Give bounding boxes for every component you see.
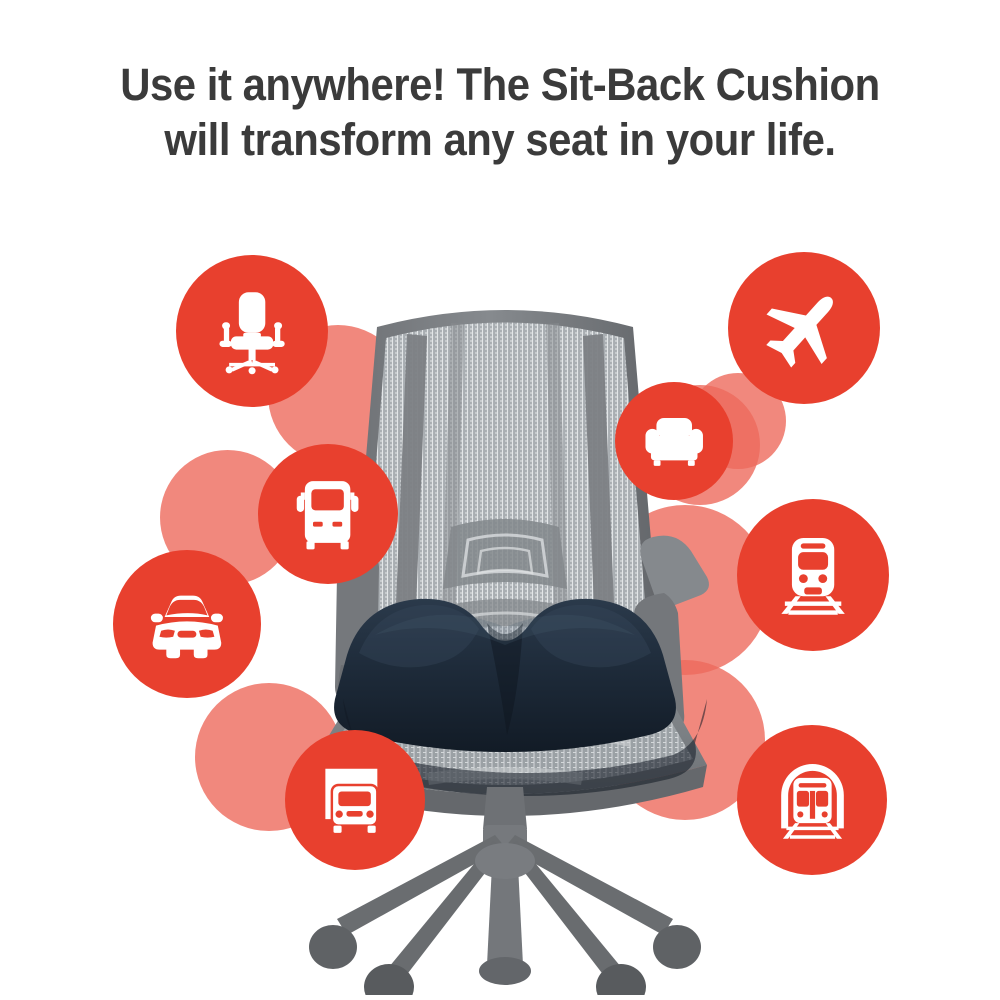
mesh-office-chair [255, 235, 755, 995]
usage-scenes-illustration [0, 205, 1000, 1000]
scene-badge-truck[interactable] [285, 730, 425, 870]
truck-icon [285, 730, 425, 870]
car-icon [113, 550, 261, 698]
promo-banner: Use it anywhere! The Sit-Back Cushion wi… [0, 0, 1000, 1000]
scene-badge-airplane[interactable] [728, 252, 880, 404]
headline-line-1: Use it anywhere! The Sit-Back Cushion [35, 58, 965, 113]
scene-badge-subway[interactable] [737, 725, 887, 875]
scene-badge-train[interactable] [737, 499, 889, 651]
train-icon [737, 499, 889, 651]
armchair-icon [615, 382, 733, 500]
bus-icon [258, 444, 398, 584]
scene-badge-armchair[interactable] [615, 382, 733, 500]
scene-badge-bus[interactable] [258, 444, 398, 584]
headline-line-2: will transform any seat in your life. [35, 113, 965, 168]
page-title: Use it anywhere! The Sit-Back Cushion wi… [35, 58, 965, 168]
subway-icon [737, 725, 887, 875]
airplane-icon [728, 252, 880, 404]
scene-badge-office-chair[interactable] [176, 255, 328, 407]
office-chair-icon [176, 255, 328, 407]
scene-badge-car[interactable] [113, 550, 261, 698]
